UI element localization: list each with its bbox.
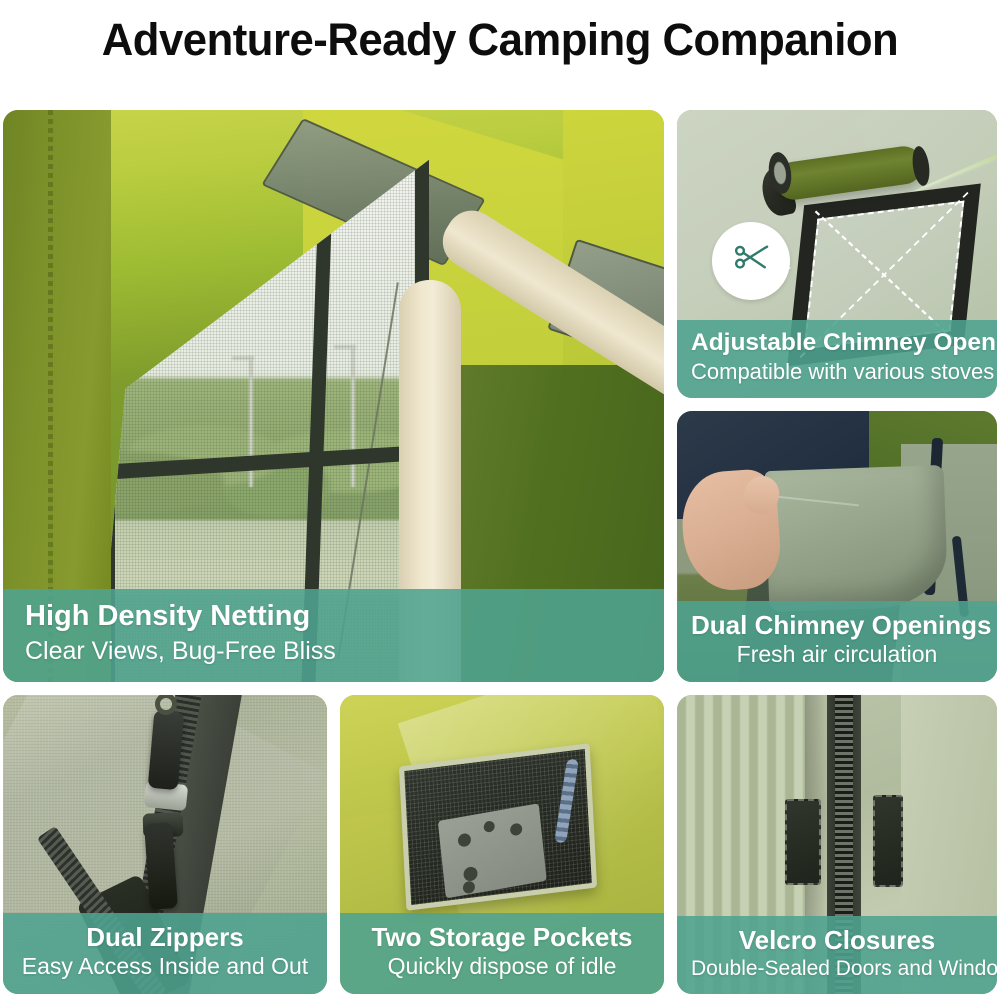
page-title: Adventure-Ready Camping Companion xyxy=(15,14,985,66)
feature-panel-dual-chimney[interactable]: Dual Chimney Openings Fresh air circulat… xyxy=(677,411,997,682)
feature-panel-velcro-closures[interactable]: Velcro Closures Double-Sealed Doors and … xyxy=(677,695,997,994)
caption-title: Adjustable Chimney Openings xyxy=(691,329,983,357)
caption-netting: High Density Netting Clear Views, Bug-Fr… xyxy=(3,589,664,682)
mesh-storage-pocket xyxy=(399,743,597,911)
feature-grid: High Density Netting Clear Views, Bug-Fr… xyxy=(3,110,997,994)
caption-title: Two Storage Pockets xyxy=(354,922,650,952)
scissors-badge xyxy=(712,222,790,300)
caption-dual-chimney: Dual Chimney Openings Fresh air circulat… xyxy=(677,601,997,682)
feature-panel-storage-pockets[interactable]: Two Storage Pockets Quickly dispose of i… xyxy=(340,695,664,994)
caption-title: Velcro Closures xyxy=(691,925,983,955)
feature-panel-netting[interactable]: High Density Netting Clear Views, Bug-Fr… xyxy=(3,110,664,682)
caption-subtitle: Easy Access Inside and Out xyxy=(17,953,313,981)
caption-dual-zippers: Dual Zippers Easy Access Inside and Out xyxy=(3,913,327,994)
caption-subtitle: Double-Sealed Doors and Windows xyxy=(691,956,983,981)
chimney-flap xyxy=(764,465,948,612)
scissors-icon xyxy=(729,237,773,286)
caption-subtitle: Quickly dispose of idle xyxy=(354,953,650,981)
caption-subtitle: Clear Views, Bug-Free Bliss xyxy=(25,636,650,666)
caption-subtitle: Compatible with various stoves xyxy=(691,359,983,385)
caption-title: High Density Netting xyxy=(25,600,650,634)
feature-panel-dual-zippers[interactable]: Dual Zippers Easy Access Inside and Out xyxy=(3,695,327,994)
caption-title: Dual Chimney Openings xyxy=(691,610,983,640)
zipper-pull-lower xyxy=(144,822,178,910)
caption-adjustable-chimney: Adjustable Chimney Openings Compatible w… xyxy=(677,320,997,398)
velcro-tab-right xyxy=(873,795,903,887)
caption-title: Dual Zippers xyxy=(17,922,313,952)
feature-panel-adjustable-chimney[interactable]: Adjustable Chimney Openings Compatible w… xyxy=(677,110,997,398)
caption-velcro-closures: Velcro Closures Double-Sealed Doors and … xyxy=(677,916,997,994)
caption-subtitle: Fresh air circulation xyxy=(691,641,983,669)
velcro-tab-left xyxy=(785,799,821,885)
caption-storage-pockets: Two Storage Pockets Quickly dispose of i… xyxy=(340,913,664,994)
